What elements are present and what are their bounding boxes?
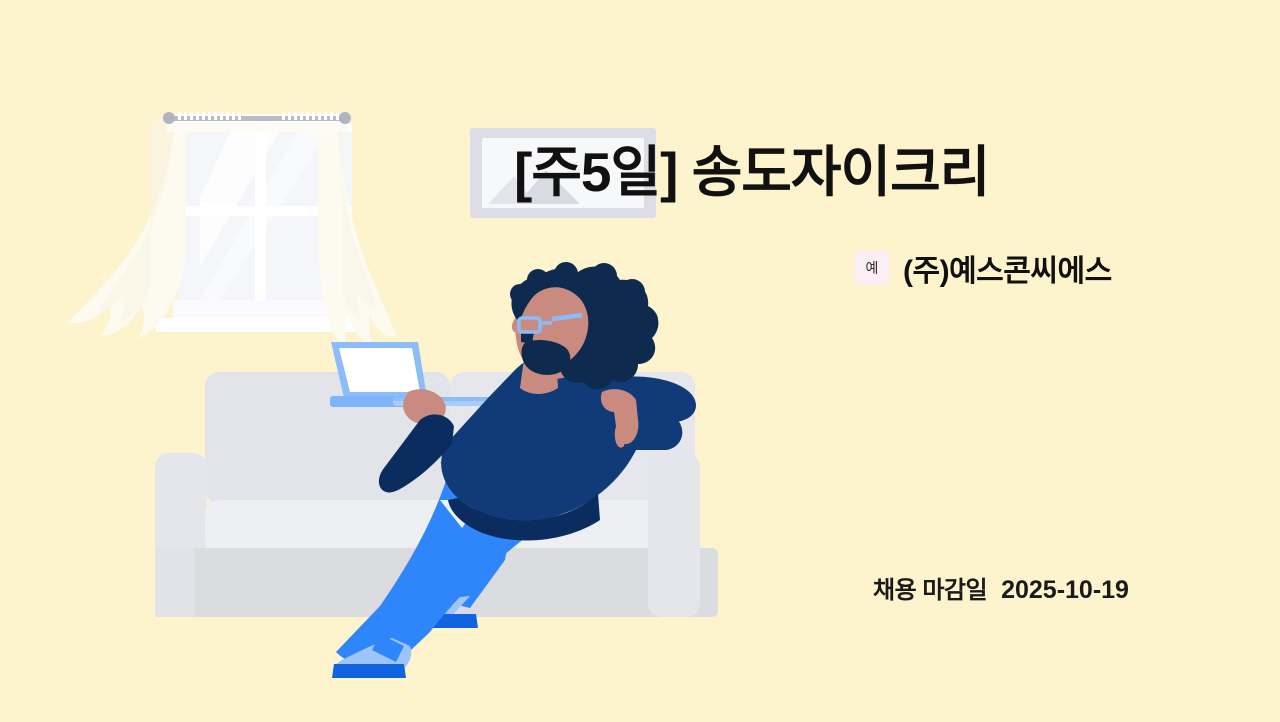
person-graphic (330, 262, 696, 678)
company-logo-badge: 예 (855, 251, 889, 285)
window-graphic (156, 124, 367, 332)
deadline-row: 채용 마감일 2025-10-19 (873, 570, 1129, 605)
illustration-person-on-couch (0, 0, 760, 722)
company-name: (주)예스콘씨에스 (903, 246, 1112, 290)
company-row[interactable]: 예 (주)예스콘씨에스 (855, 248, 1112, 288)
title-row: [주5일] 송도자이크리 (470, 128, 1280, 220)
couch-graphic (155, 372, 718, 617)
laptop-graphic (330, 342, 515, 407)
curtain-rod-graphic (163, 112, 351, 124)
couch-front-arm (648, 453, 700, 617)
job-posting-card: [주5일] 송도자이크리 예 (주)예스콘씨에스 채용 마감일 2025-10-… (0, 0, 1280, 722)
deadline-label: 채용 마감일 (873, 570, 987, 605)
deadline-date: 2025-10-19 (1001, 576, 1129, 605)
posting-text-column: [주5일] 송도자이크리 예 (주)예스콘씨에스 채용 마감일 2025-10-… (760, 0, 1280, 722)
curtains-graphic (68, 114, 396, 350)
page-title: [주5일] 송도자이크리 (514, 128, 989, 218)
glasses-graphic (519, 315, 582, 332)
